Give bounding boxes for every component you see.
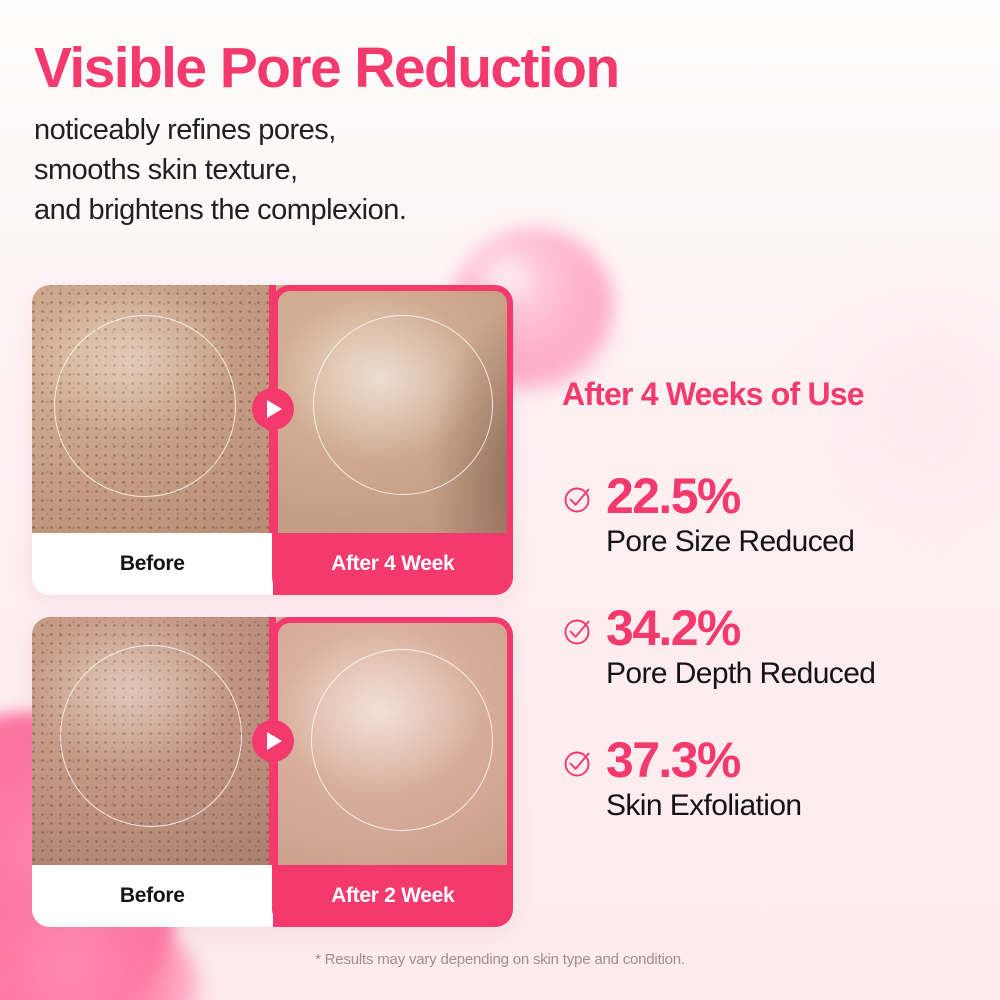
stat-label: Pore Depth Reduced xyxy=(606,657,982,691)
zoom-circle-overlay xyxy=(54,315,236,497)
after-photo xyxy=(273,285,514,533)
photo-row xyxy=(32,285,513,533)
label-row: Before After 2 Week xyxy=(32,865,513,927)
play-triangle-glyph xyxy=(267,400,282,418)
stat-item: 34.2% Pore Depth Reduced xyxy=(562,601,982,691)
page-title: Visible Pore Reduction xyxy=(34,36,794,100)
stat-label: Skin Exfoliation xyxy=(606,789,982,823)
after-photo xyxy=(273,617,514,865)
zoom-circle-overlay xyxy=(60,645,242,827)
results-heading: After 4 Weeks of Use xyxy=(562,376,982,413)
before-photo xyxy=(32,617,273,865)
results-panel: After 4 Weeks of Use 22.5% Pore Size Red… xyxy=(562,376,982,823)
stat-label: Pore Size Reduced xyxy=(606,525,982,559)
check-circle-icon xyxy=(562,747,594,779)
photo-row xyxy=(32,617,513,865)
before-after-card[interactable]: Before After 2 Week xyxy=(32,617,513,927)
zoom-circle-overlay xyxy=(311,649,493,831)
subheadline: noticeably refines pores, smooths skin t… xyxy=(34,110,794,230)
before-after-card[interactable]: Before After 4 Week xyxy=(32,285,513,595)
subheadline-line-2: smooths skin texture, xyxy=(34,150,794,190)
before-label: Before xyxy=(32,533,273,595)
stat-value: 22.5% xyxy=(606,469,982,523)
play-triangle-glyph xyxy=(267,732,282,750)
play-triangle-icon[interactable] xyxy=(252,388,294,430)
header-block: Visible Pore Reduction noticeably refine… xyxy=(34,36,794,230)
zoom-circle-overlay xyxy=(313,315,493,495)
after-label: After 2 Week xyxy=(273,865,514,927)
footnote-disclaimer: * Results may vary depending on skin typ… xyxy=(0,951,1000,968)
poster-canvas: Visible Pore Reduction noticeably refine… xyxy=(0,0,1000,1000)
play-triangle-icon[interactable] xyxy=(252,720,294,762)
subheadline-line-1: noticeably refines pores, xyxy=(34,110,794,150)
before-label: Before xyxy=(32,865,273,927)
check-circle-icon xyxy=(562,483,594,515)
before-photo xyxy=(32,285,273,533)
subheadline-line-3: and brightens the complexion. xyxy=(34,190,794,230)
label-row: Before After 4 Week xyxy=(32,533,513,595)
check-circle-icon xyxy=(562,615,594,647)
stat-item: 22.5% Pore Size Reduced xyxy=(562,469,982,559)
stat-value: 34.2% xyxy=(606,601,982,655)
after-label: After 4 Week xyxy=(273,533,514,595)
stat-item: 37.3% Skin Exfoliation xyxy=(562,733,982,823)
stat-value: 37.3% xyxy=(606,733,982,787)
